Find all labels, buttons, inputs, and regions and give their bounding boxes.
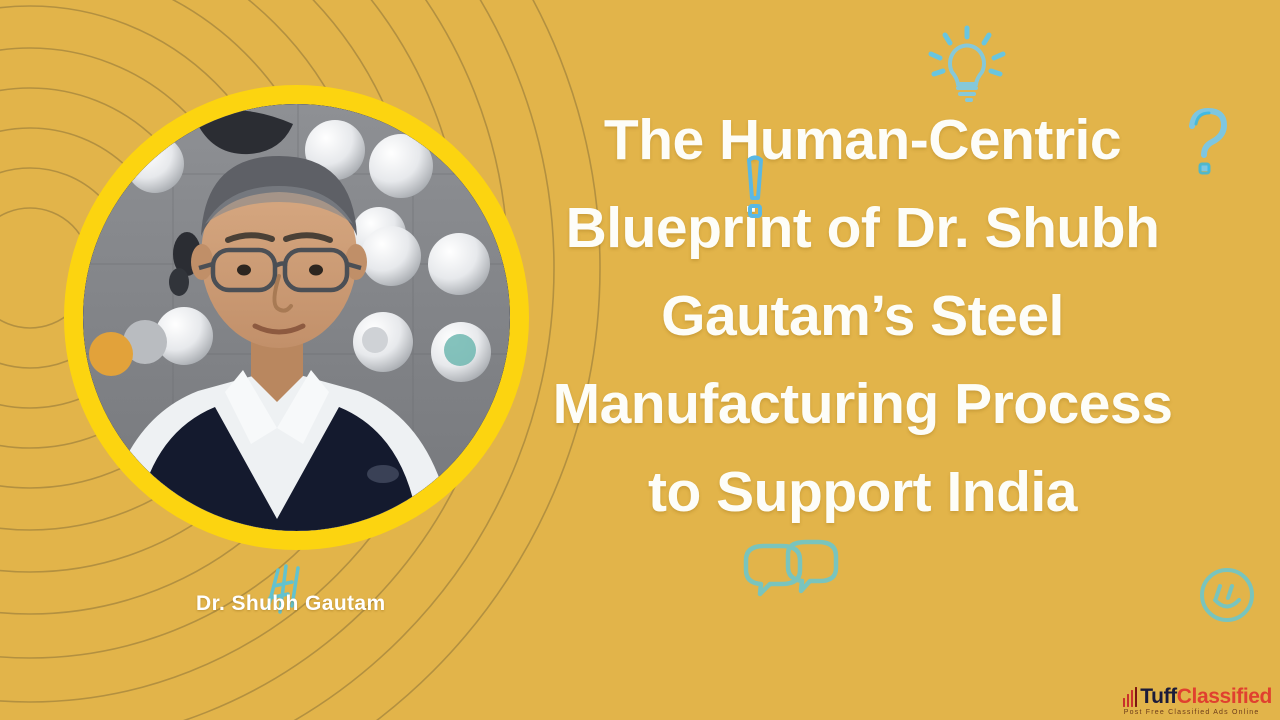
tuffclassified-logo[interactable]: TuffClassified Post Free Classified Ads … xyxy=(1123,687,1272,716)
avatar xyxy=(64,85,529,550)
headline-line-3: Gautam’s Steel xyxy=(505,272,1220,360)
lightbulb-icon xyxy=(912,14,1022,106)
headline-line-1: The Human-Centric xyxy=(505,96,1220,184)
logo-wordmark: TuffClassified xyxy=(1123,687,1272,707)
headline-line-4: Manufacturing Process xyxy=(505,360,1220,448)
portrait-photo xyxy=(83,104,510,531)
slide-canvas: Dr. Shubh Gautam The Human-Centric Bluep… xyxy=(0,0,1280,720)
page-title: The Human-Centric Blueprint of Dr. Shubh… xyxy=(505,96,1220,536)
avatar-inner xyxy=(83,104,510,531)
logo-word-secondary: Classified xyxy=(1177,685,1272,708)
logo-tagline: Post Free Classified Ads Online xyxy=(1124,709,1260,716)
portrait-caption: Dr. Shubh Gautam xyxy=(196,592,386,616)
logo-word-primary: Tuff xyxy=(1140,685,1176,708)
bar-chart-icon xyxy=(1123,687,1138,707)
speech-bubbles-icon xyxy=(738,538,842,608)
smiley-face-icon xyxy=(1194,562,1260,628)
headline-line-5: to Support India xyxy=(505,448,1220,536)
headline-line-2: Blueprint of Dr. Shubh xyxy=(505,184,1220,272)
